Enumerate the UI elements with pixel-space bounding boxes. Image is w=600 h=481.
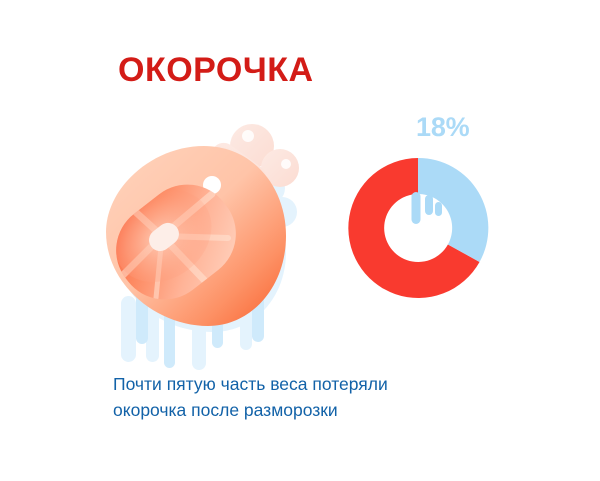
percent-label: 18%: [416, 111, 469, 143]
infographic-canvas: ОКОРОЧКА: [0, 0, 600, 481]
caption-line-1: Почти пятую часть веса потеряли: [113, 371, 513, 397]
frozen-ham-illustration: [100, 110, 330, 370]
caption: Почти пятую часть веса потеряли окорочка…: [113, 371, 513, 423]
donut-chart: [338, 148, 498, 308]
caption-line-2: окорочка после разморозки: [113, 397, 513, 423]
page-title: ОКОРОЧКА: [118, 50, 314, 90]
